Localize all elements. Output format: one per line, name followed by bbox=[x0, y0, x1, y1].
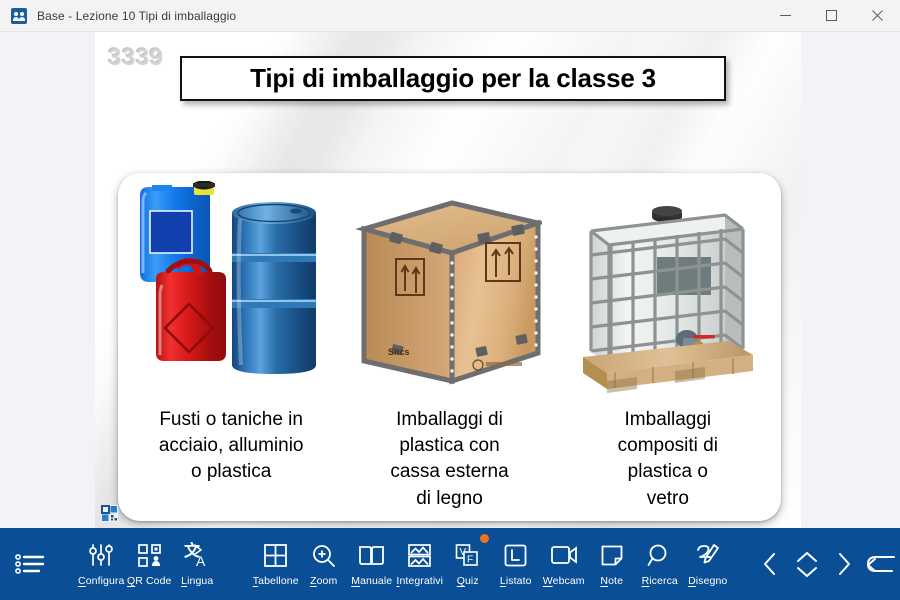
next-slide-button[interactable] bbox=[826, 528, 863, 600]
toolbar-item-disegno[interactable]: Disegno bbox=[684, 528, 732, 600]
content-column-3: Imballaggi compositi di plastica o vetro bbox=[559, 181, 777, 521]
updown-slide-button[interactable] bbox=[789, 528, 826, 600]
toolbar-label: Zoom bbox=[310, 575, 337, 587]
toolbar-item-quiz[interactable]: V F Quiz bbox=[444, 528, 492, 600]
close-icon[interactable] bbox=[854, 0, 900, 32]
content-column-1: Fusti o taniche in acciaio, alluminio o … bbox=[122, 181, 340, 521]
toolbar-label: Configura bbox=[78, 575, 124, 587]
minimize-icon[interactable] bbox=[762, 0, 808, 32]
users-group-icon bbox=[11, 8, 27, 24]
pen-draw-icon bbox=[695, 540, 721, 570]
menu-list-button[interactable] bbox=[0, 528, 60, 600]
toolbar-label: Lingua bbox=[181, 575, 213, 587]
translate-icon: 文 A bbox=[184, 540, 211, 570]
content-column-2: Sitcs Imballaggi di plastica con cassa e… bbox=[340, 181, 558, 521]
plywood-crate-photo: Sitcs bbox=[340, 181, 558, 399]
svg-text:A: A bbox=[196, 553, 206, 568]
toolbar-item-ricerca[interactable]: Ricerca bbox=[636, 528, 684, 600]
toolbar-item-webcam[interactable]: Webcam bbox=[540, 528, 588, 600]
column-caption: Fusti o taniche in acciaio, alluminio o … bbox=[153, 399, 310, 486]
toolbar-item-manuale[interactable]: Manuale bbox=[348, 528, 396, 600]
toolbar-item-listato[interactable]: Listato bbox=[492, 528, 540, 600]
content-card: Fusti o taniche in acciaio, alluminio o … bbox=[118, 173, 781, 521]
toolbar-item-configura[interactable]: Configura bbox=[77, 528, 125, 600]
toolbar-label: Manuale bbox=[351, 575, 392, 587]
return-back-button[interactable] bbox=[863, 528, 900, 600]
slide-stage: 3339 Tipi di imballaggio per la classe 3 bbox=[0, 32, 900, 528]
quiz-notification-badge bbox=[480, 534, 489, 543]
toolbar-label: QR Code bbox=[127, 575, 171, 587]
qr-code-icon bbox=[137, 540, 162, 570]
grid-board-icon bbox=[263, 540, 288, 570]
previous-slide-button[interactable] bbox=[752, 528, 789, 600]
slide-number: 3339 bbox=[108, 44, 163, 72]
toolbar-item-tabellone[interactable]: Tabellone bbox=[252, 528, 300, 600]
toolbar-label: Quiz bbox=[457, 575, 479, 587]
qr-code-icon[interactable] bbox=[101, 505, 118, 522]
toolbar-item-lingua[interactable]: 文 A Lingua bbox=[173, 528, 221, 600]
zoom-in-icon bbox=[311, 540, 336, 570]
window-title: Base - Lezione 10 Tipi di imballaggio bbox=[37, 9, 236, 23]
slide-title-box: Tipi di imballaggio per la classe 3 bbox=[180, 56, 726, 101]
toolbar-label: Note bbox=[600, 575, 623, 587]
listing-box-icon bbox=[503, 540, 528, 570]
toolbar-item-zoom[interactable]: Zoom bbox=[300, 528, 348, 600]
open-book-icon bbox=[358, 540, 385, 570]
bottom-toolbar: Configura QR Code 文 bbox=[0, 528, 900, 600]
application-window: Base - Lezione 10 Tipi di imballaggio 33… bbox=[0, 0, 900, 600]
toolbar-item-qr-code[interactable]: QR Code bbox=[125, 528, 173, 600]
toolbar-gap bbox=[60, 528, 77, 600]
video-camera-icon bbox=[550, 540, 578, 570]
toolbar-label: Webcam bbox=[543, 575, 585, 587]
search-icon bbox=[647, 540, 672, 570]
toolbar-label: Ricerca bbox=[642, 575, 678, 587]
toolbar-gap bbox=[732, 528, 752, 600]
toolbar-label: Integrativi bbox=[396, 575, 443, 587]
toolbar-item-integrativi[interactable]: Integrativi bbox=[396, 528, 444, 600]
toolbar-label: Disegno bbox=[688, 575, 727, 587]
svg-text:Sitcs: Sitcs bbox=[388, 347, 410, 357]
toolbar-label: Tabellone bbox=[253, 575, 299, 587]
sliders-icon bbox=[88, 540, 114, 570]
svg-text:F: F bbox=[467, 554, 473, 565]
maximize-icon[interactable] bbox=[808, 0, 854, 32]
title-bar: Base - Lezione 10 Tipi di imballaggio bbox=[0, 0, 900, 32]
slide-canvas[interactable]: 3339 Tipi di imballaggio per la classe 3 bbox=[95, 32, 801, 528]
note-page-icon bbox=[600, 540, 624, 570]
page-title: Tipi di imballaggio per la classe 3 bbox=[250, 63, 656, 94]
quiz-cards-icon: V F bbox=[455, 540, 480, 570]
column-caption: Imballaggi di plastica con cassa esterna… bbox=[384, 399, 514, 512]
bulleted-list-icon bbox=[15, 549, 45, 579]
toolbar-gap bbox=[221, 528, 251, 600]
ibc-tank-on-pallet-photo bbox=[559, 181, 777, 399]
images-stack-icon bbox=[407, 540, 432, 570]
column-caption: Imballaggi compositi di plastica o vetro bbox=[612, 399, 724, 512]
toolbar-item-note[interactable]: Note bbox=[588, 528, 636, 600]
steel-and-plastic-drums-jerrycans-photo bbox=[122, 181, 340, 399]
toolbar-label: Listato bbox=[500, 575, 532, 587]
